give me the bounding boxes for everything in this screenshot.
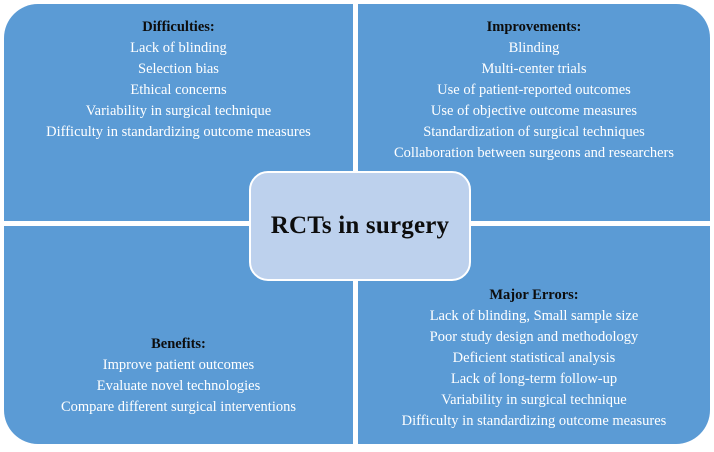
list-item: Standardization of surgical techniques: [394, 122, 674, 143]
quadrant-list-improvements: Blinding Multi-center trials Use of pati…: [394, 38, 674, 164]
list-item: Ethical concerns: [46, 80, 311, 101]
list-item: Selection bias: [46, 59, 311, 80]
quadrant-heading-improvements: Improvements:: [487, 17, 582, 38]
list-item: Deficient statistical analysis: [402, 348, 667, 369]
list-item: Variability in surgical technique: [46, 101, 311, 122]
list-item: Lack of blinding: [46, 38, 311, 59]
center-node: RCTs in surgery: [249, 171, 471, 281]
list-item: Evaluate novel technologies: [61, 376, 296, 397]
list-item: Variability in surgical technique: [402, 390, 667, 411]
list-item: Use of patient-reported outcomes: [394, 80, 674, 101]
list-item: Lack of blinding, Small sample size: [402, 306, 667, 327]
list-item: Blinding: [394, 38, 674, 59]
list-item: Poor study design and methodology: [402, 327, 667, 348]
list-item: Use of objective outcome measures: [394, 101, 674, 122]
quadrant-list-major-errors: Lack of blinding, Small sample size Poor…: [402, 306, 667, 432]
list-item: Collaboration between surgeons and resea…: [394, 143, 674, 164]
list-item: Multi-center trials: [394, 59, 674, 80]
list-item: Difficulty in standardizing outcome meas…: [402, 411, 667, 432]
list-item: Compare different surgical interventions: [61, 397, 296, 418]
quadrant-heading-major-errors: Major Errors:: [489, 285, 578, 306]
center-node-label: RCTs in surgery: [271, 212, 450, 240]
four-quadrant-diagram: Difficulties: Lack of blinding Selection…: [0, 0, 714, 452]
list-item: Lack of long-term follow-up: [402, 369, 667, 390]
quadrant-heading-difficulties: Difficulties:: [142, 17, 214, 38]
quadrant-list-benefits: Improve patient outcomes Evaluate novel …: [61, 355, 296, 418]
list-item: Improve patient outcomes: [61, 355, 296, 376]
quadrant-list-difficulties: Lack of blinding Selection bias Ethical …: [46, 38, 311, 143]
list-item: Difficulty in standardizing outcome meas…: [46, 122, 311, 143]
quadrant-heading-benefits: Benefits:: [151, 334, 206, 355]
